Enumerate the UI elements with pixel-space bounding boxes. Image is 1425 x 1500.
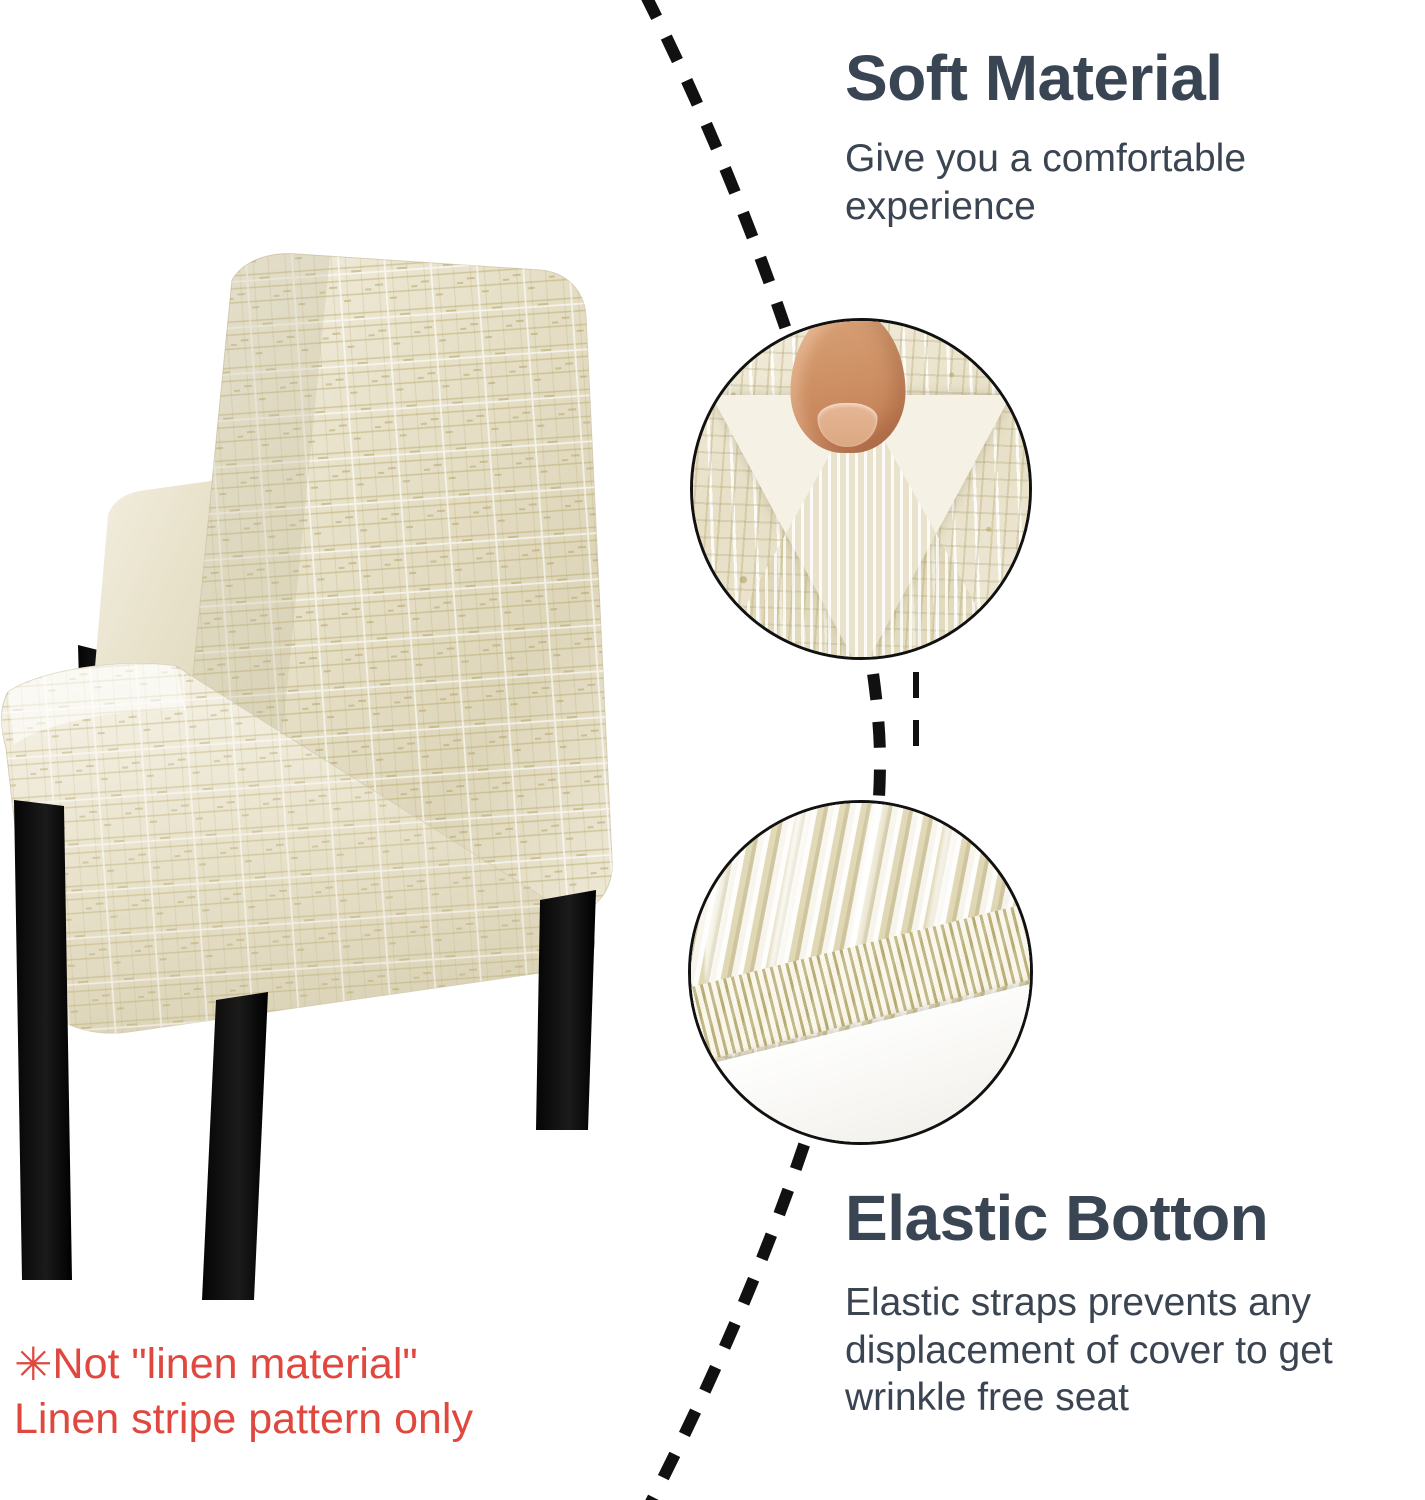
infographic-canvas: Soft Material Give you a comfortable exp… (0, 0, 1425, 1500)
product-chair-image (0, 240, 640, 1310)
elastic-hem-photo (691, 803, 1030, 1142)
material-disclaimer: ✳Not "linen material" Linen stripe patte… (14, 1337, 634, 1447)
fabric-pinch-photo (693, 321, 1029, 657)
detail-circle-soft-material (690, 318, 1032, 660)
chair-leg-front-right (202, 992, 268, 1300)
detail-circle-elastic-botton (688, 800, 1033, 1145)
feature-body-soft-material: Give you a comfortable experience (845, 135, 1405, 230)
chair-leg-front-left (14, 800, 72, 1280)
feature-title-elastic-botton: Elastic Botton (845, 1186, 1405, 1251)
disclaimer-line-1: ✳Not "linen material" (14, 1337, 634, 1392)
chair-leg-rear-right (536, 890, 596, 1130)
feature-block-soft-material: Soft Material Give you a comfortable exp… (845, 46, 1405, 230)
feature-title-soft-material: Soft Material (845, 46, 1405, 111)
chair-illustration (0, 240, 640, 1310)
feature-body-elastic-botton: Elastic straps prevents any displacement… (845, 1279, 1405, 1422)
disclaimer-line-2-text: Linen stripe pattern only (14, 1392, 634, 1447)
thumbnail-icon (818, 403, 878, 447)
asterisk-icon: ✳ (14, 1338, 53, 1390)
thumb-icon (790, 318, 905, 453)
feature-block-elastic-botton: Elastic Botton Elastic straps prevents a… (845, 1186, 1405, 1422)
dashed-vertical-connector (913, 672, 919, 796)
connector-dash (913, 672, 919, 698)
disclaimer-line-1-text: Not "linen material" (53, 1340, 418, 1388)
connector-dash (913, 720, 919, 746)
